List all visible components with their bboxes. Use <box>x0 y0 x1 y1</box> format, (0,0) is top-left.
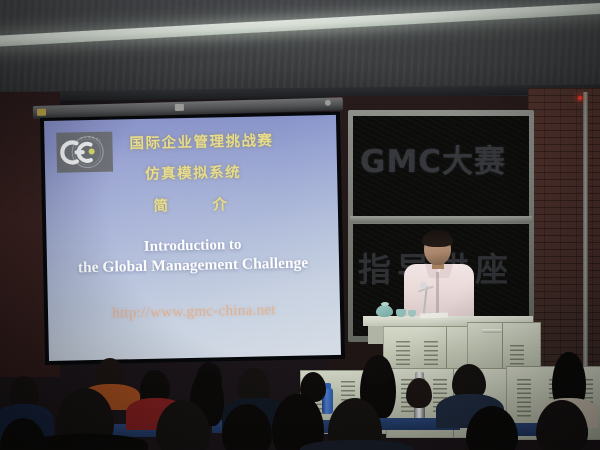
projection-screen: GLO BAL 国际企业管理挑战赛 仿真模拟系统 简 介 Introductio… <box>44 115 341 361</box>
papers-on-desk <box>420 313 448 319</box>
teapot-lid <box>381 302 389 306</box>
blackboard-chalk-text-top: GMC大赛 <box>360 136 525 181</box>
audience-head <box>406 378 432 408</box>
slide-title-en: Introduction to the Global Management Ch… <box>46 233 339 279</box>
indicator-led <box>578 96 582 100</box>
blackboard-chalk-rail <box>350 216 532 223</box>
lecture-hall-photo: GLO BAL 国际企业管理挑战赛 仿真模拟系统 简 介 Introductio… <box>0 0 600 450</box>
audience-head <box>364 355 392 385</box>
wall-metal-strip <box>583 92 588 377</box>
audience-shoulders-front <box>300 440 414 450</box>
tea-cup-1 <box>396 309 406 317</box>
speaker-hair <box>422 230 453 247</box>
microphone-head <box>420 282 427 289</box>
teapot <box>376 305 393 317</box>
